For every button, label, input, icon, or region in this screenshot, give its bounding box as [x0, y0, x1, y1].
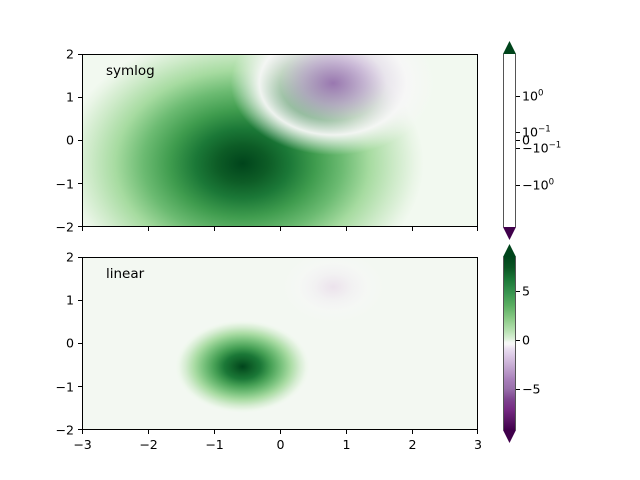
cbar-linear-ticklabel-0: 5 [522, 284, 530, 299]
colorbar-linear-gradient [503, 257, 516, 430]
cbar-symlog-exponent-1: −1 [538, 125, 551, 135]
xtick-linear-2 [412, 430, 413, 434]
xtick-symlog-m1 [214, 227, 215, 231]
cbar-symlog-ticklabel-0: 100 [522, 89, 544, 104]
xticklabel-3: 3 [474, 437, 482, 452]
cbar-symlog-exponent-3: −1 [549, 140, 562, 150]
xtick-linear-1 [346, 430, 347, 434]
colorbar-linear-extend-up [503, 244, 516, 257]
xtick-linear-m1 [214, 430, 215, 434]
cbar-symlog-ticklabel-3: −10−1 [522, 141, 561, 156]
yticklabel-symlog-0: 0 [56, 133, 74, 148]
cbar-symlog-mantissa-0: 10 [522, 89, 538, 104]
cbar-symlog-exponent-4: 0 [549, 177, 554, 187]
xtick-linear-3 [477, 430, 478, 434]
yticklabel-linear-1: 1 [56, 293, 74, 308]
xticklabel-1: 1 [342, 437, 350, 452]
cbar-linear-tick-2 [516, 389, 520, 390]
xtick-symlog-m3 [82, 227, 83, 231]
panel-label-symlog: symlog [106, 63, 155, 79]
xtick-symlog-3 [477, 227, 478, 231]
yticklabel-linear-m1: −1 [48, 380, 74, 395]
colorbar-symlog-extend-up [503, 41, 516, 54]
axes-linear [82, 257, 478, 430]
xtick-linear-m2 [148, 430, 149, 434]
xtick-linear-m3 [82, 430, 83, 434]
yticklabel-linear-2: 2 [56, 250, 74, 265]
ytick-linear-0 [78, 343, 82, 344]
heatmap-symlog [83, 55, 477, 226]
colorbar-symlog-extend-down [503, 227, 516, 240]
ytick-linear-m1 [78, 386, 82, 387]
xtick-symlog-2 [412, 227, 413, 231]
yticklabel-linear-0: 0 [56, 336, 74, 351]
xticklabel-0: 0 [276, 437, 284, 452]
colorbar-linear-extend-down [503, 430, 516, 443]
xtick-linear-0 [280, 430, 281, 434]
cbar-linear-ticklabel-2: −5 [522, 382, 541, 397]
colorbar-symlog-gradient [503, 54, 516, 227]
cbar-symlog-tick-0 [516, 96, 520, 97]
xticklabel-m3: −3 [73, 437, 92, 452]
xticklabel-m1: −1 [205, 437, 224, 452]
ytick-symlog-0 [78, 140, 82, 141]
cbar-symlog-tick-3 [516, 148, 520, 149]
xticklabel-2: 2 [408, 437, 416, 452]
colorbar-linear: 5 0 −5 [503, 257, 516, 430]
ytick-symlog-2 [78, 54, 82, 55]
xtick-symlog-m2 [148, 227, 149, 231]
colorbar-symlog: 100 10−1 0 −10−1 −100 [503, 54, 516, 227]
cbar-symlog-exponent-0: 0 [538, 89, 543, 99]
cbar-symlog-mantissa-4: −10 [522, 177, 549, 192]
ytick-symlog-m1 [78, 183, 82, 184]
heatmap-linear [83, 258, 477, 429]
yticklabel-symlog-2: 2 [56, 47, 74, 62]
cbar-linear-ticklabel-1: 0 [522, 333, 530, 348]
cbar-symlog-tick-1 [516, 132, 520, 133]
xticklabel-m2: −2 [139, 437, 158, 452]
ytick-symlog-1 [78, 97, 82, 98]
matplotlib-figure: symlog 2 1 0 −1 −2 100 10−1 0 −10−1 [0, 0, 640, 480]
ytick-linear-1 [78, 300, 82, 301]
cbar-symlog-tick-4 [516, 185, 520, 186]
panel-label-linear: linear [106, 266, 144, 282]
xtick-symlog-1 [346, 227, 347, 231]
xtick-symlog-0 [280, 227, 281, 231]
yticklabel-symlog-m2: −2 [48, 220, 74, 235]
cbar-symlog-mantissa-3: −10 [522, 141, 549, 156]
yticklabel-symlog-m1: −1 [48, 177, 74, 192]
cbar-symlog-tick-2 [516, 140, 520, 141]
yticklabel-symlog-1: 1 [56, 90, 74, 105]
axes-symlog [82, 54, 478, 227]
cbar-symlog-ticklabel-4: −100 [522, 177, 554, 192]
cbar-linear-tick-0 [516, 291, 520, 292]
yticklabel-linear-m2: −2 [48, 423, 74, 438]
cbar-linear-tick-1 [516, 340, 520, 341]
ytick-linear-2 [78, 257, 82, 258]
